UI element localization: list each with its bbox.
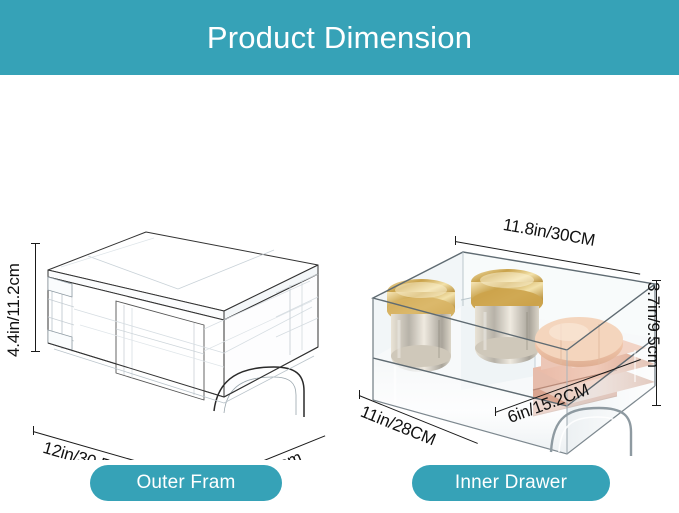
- caption-inner-drawer: Inner Drawer: [412, 465, 610, 501]
- dim-cap-outer-width-start: [33, 426, 34, 435]
- product-diagram-area: 4.4in/11.2cm: [0, 75, 679, 460]
- caption-row: Outer Fram Inner Drawer: [0, 460, 679, 513]
- dim-cap-inner-inner-width-start: [359, 390, 360, 399]
- dim-label-outer-height: 4.4in/11.2cm: [4, 263, 24, 357]
- caption-outer-frame: Outer Fram: [90, 465, 282, 501]
- header-banner: Product Dimension: [0, 0, 679, 75]
- product-inner-drawer: 11.8in/30CM: [345, 75, 679, 460]
- dim-cap-inner-height-bottom: [652, 405, 661, 406]
- dim-cap-inner-height-top: [652, 280, 661, 281]
- outer-frame-illustration: [28, 225, 328, 425]
- page-title: Product Dimension: [207, 22, 472, 53]
- dim-cap-inner-depth-start: [495, 407, 496, 416]
- dim-label-inner-height: 3.7in/9.5cm: [643, 282, 663, 368]
- product-outer-frame: 4.4in/11.2cm: [0, 75, 345, 460]
